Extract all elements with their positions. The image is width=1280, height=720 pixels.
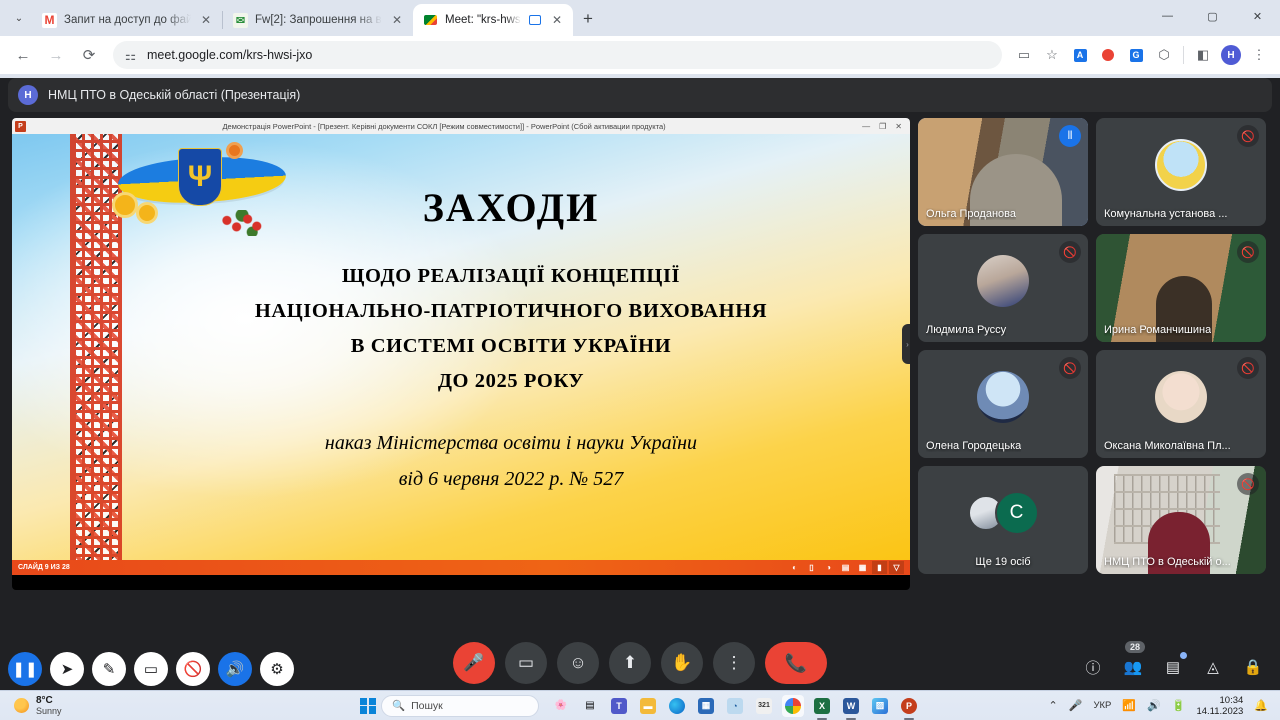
hangup-button[interactable]: 📞 bbox=[765, 642, 827, 684]
browser-tab-2[interactable]: Fw[2]: Запрошення на вебінар ✕ bbox=[223, 4, 413, 36]
participant-count-badge: 28 bbox=[1125, 641, 1145, 653]
app-running-indicator bbox=[904, 718, 914, 720]
word-icon[interactable]: W bbox=[840, 695, 862, 717]
mic-toggle-button[interactable]: 🎤 bbox=[453, 642, 495, 684]
sun-icon bbox=[14, 698, 29, 713]
address-bar-row: ← → ⟳ ⚏ meet.google.com/krs-hwsi-jxo ▭ ☆… bbox=[0, 36, 1280, 74]
participant-name: Ирина Романчишина bbox=[1104, 324, 1211, 336]
participant-name: НМЦ ПТО в Одеській о... bbox=[1104, 556, 1231, 568]
new-tab-button[interactable]: + bbox=[573, 4, 603, 34]
people-icon[interactable]: 28 👥 bbox=[1120, 654, 1146, 680]
search-placeholder: Пошук bbox=[411, 700, 443, 712]
close-icon[interactable]: ✕ bbox=[895, 122, 902, 131]
translate-icon[interactable]: A bbox=[1067, 42, 1093, 68]
powerpoint-title-bar: P Демонстрація PowerPoint - [Презент. Ке… bbox=[12, 118, 910, 134]
participant-name: Оксана Миколаївна Пл... bbox=[1104, 440, 1231, 452]
record-dot-icon[interactable] bbox=[1095, 42, 1121, 68]
participant-tile-oksana[interactable]: 🚫 Оксана Миколаївна Пл... bbox=[1096, 350, 1266, 458]
slide-subtitle-2: від 6 червня 2022 р. № 527 bbox=[142, 461, 880, 497]
mic-off-icon: 🚫 bbox=[1237, 357, 1259, 379]
battery-icon[interactable]: 🔋 bbox=[1172, 699, 1186, 712]
host-controls-lock-icon[interactable]: 🔒 bbox=[1240, 654, 1266, 680]
bookshelf-background bbox=[1114, 474, 1220, 544]
minimize-button[interactable]: — bbox=[1145, 0, 1190, 32]
avatar bbox=[977, 255, 1029, 307]
teams-icon[interactable]: T bbox=[608, 695, 630, 717]
weather-widget[interactable]: 8°C Sunny bbox=[0, 695, 62, 717]
excel-icon[interactable]: X bbox=[811, 695, 833, 717]
meeting-body: P Демонстрація PowerPoint - [Презент. Ке… bbox=[0, 112, 1280, 586]
powerpoint-window-controls: — ❐ ✕ bbox=[862, 122, 907, 131]
app-running-indicator bbox=[846, 718, 856, 720]
close-window-button[interactable]: ✕ bbox=[1235, 0, 1280, 32]
present-screen-button[interactable]: ⬆ bbox=[609, 642, 651, 684]
back-icon[interactable]: ← bbox=[8, 40, 38, 70]
microsoft-store-icon[interactable]: ▦ bbox=[695, 695, 717, 717]
pen-tools-icon[interactable]: ▯ bbox=[804, 561, 819, 574]
mic-off-icon: 🚫 bbox=[1059, 241, 1081, 263]
slide-number-status: СЛАЙД 9 ИЗ 28 bbox=[18, 564, 70, 571]
participant-tile-olena[interactable]: 🚫 Олена Городецька bbox=[918, 350, 1088, 458]
show-hidden-icons-chevron-icon[interactable]: ⌃ bbox=[1049, 699, 1058, 712]
close-icon[interactable]: ✕ bbox=[198, 12, 214, 28]
forward-icon[interactable]: → bbox=[41, 40, 71, 70]
shared-screen-powerpoint[interactable]: P Демонстрація PowerPoint - [Презент. Ке… bbox=[12, 118, 910, 590]
minimize-icon[interactable]: — bbox=[862, 122, 870, 131]
maximize-button[interactable]: ▢ bbox=[1190, 0, 1235, 32]
tab-media-indicator-icon[interactable] bbox=[528, 13, 542, 27]
participant-name: Комунальна установа ... bbox=[1104, 208, 1227, 220]
reload-icon[interactable]: ⟳ bbox=[74, 40, 104, 70]
grid-view-icon[interactable]: ▦ bbox=[855, 561, 870, 574]
browser-tab-1[interactable]: Запит на доступ до файлу "ПР ✕ bbox=[32, 4, 222, 36]
browser-tab-3-active[interactable]: Meet: "krs-hwsi-jxo" ✕ bbox=[413, 4, 573, 36]
mic-off-icon: 🚫 bbox=[1237, 125, 1259, 147]
tab-title: Запит на доступ до файлу "ПР bbox=[64, 14, 191, 26]
chrome-icon[interactable] bbox=[782, 695, 804, 717]
google-meet-app: H НМЦ ПТО в Одеській області (Презентаці… bbox=[0, 78, 1280, 694]
weather-temperature: 8°C bbox=[36, 695, 62, 706]
toolbar-divider bbox=[1183, 46, 1184, 64]
slide-line-3: В СИСТЕМІ ОСВІТИ УКРАЇНИ bbox=[142, 329, 880, 364]
avatar: C bbox=[995, 491, 1039, 535]
video-camera-icon[interactable]: ▭ bbox=[1011, 42, 1037, 68]
slide-subtitle-1: наказ Міністерства освіти і науки Україн… bbox=[142, 425, 880, 461]
wifi-icon[interactable]: 📶 bbox=[1122, 699, 1136, 712]
notes-icon[interactable]: ▤ bbox=[838, 561, 853, 574]
taskbar-apps: 🌸 ▤ T ▬ ▦ ◔ 321 X W ▨ P bbox=[550, 695, 920, 717]
avatar bbox=[1155, 371, 1207, 423]
meeting-header: H НМЦ ПТО в Одеській області (Презентаці… bbox=[8, 78, 1272, 112]
photos-icon[interactable]: ▨ bbox=[869, 695, 891, 717]
file-explorer-icon[interactable]: ▬ bbox=[637, 695, 659, 717]
weather-description: Sunny bbox=[36, 706, 62, 717]
meeting-info-icon[interactable]: ⓘ bbox=[1080, 654, 1106, 680]
activities-icon[interactable]: ◬ bbox=[1200, 654, 1226, 680]
close-icon[interactable]: ✕ bbox=[549, 12, 565, 28]
participant-tile-ludmila[interactable]: 🚫 Людмила Руссу bbox=[918, 234, 1088, 342]
profile-avatar[interactable]: H bbox=[1218, 42, 1244, 68]
chat-icon[interactable]: ▤ bbox=[1160, 654, 1186, 680]
unread-dot-indicator bbox=[1180, 652, 1187, 659]
gmail-icon bbox=[42, 13, 57, 28]
avatar bbox=[977, 371, 1029, 423]
mic-off-icon: 🚫 bbox=[1237, 241, 1259, 263]
participant-grid: ⦀ Ольга Проданова 🚫 Комунальна установа … bbox=[918, 118, 1266, 586]
powerpoint-status-bar: СЛАЙД 9 ИЗ 28 ◐ ▯ ◑ ▤ ▦ ▮ ▽ bbox=[12, 560, 910, 575]
tab-title: Fw[2]: Запрошення на вебінар bbox=[255, 14, 382, 26]
volume-icon[interactable]: 🔊 bbox=[1147, 699, 1161, 712]
participant-name: Людмила Руссу bbox=[926, 324, 1006, 336]
slide-line-2: НАЦІОНАЛЬНО-ПАТРІОТИЧНОГО ВИХОВАННЯ bbox=[142, 294, 880, 329]
flower-icon bbox=[226, 142, 243, 159]
participant-name: Олена Городецька bbox=[926, 440, 1021, 452]
calendar-icon[interactable]: 321 bbox=[753, 695, 775, 717]
taskbar-center: 🔍 Пошук 🌸 ▤ T ▬ ▦ ◔ 321 X W ▨ P bbox=[360, 695, 920, 717]
more-slideshow-options-icon[interactable]: ▽ bbox=[889, 561, 904, 574]
slide-text-block: ЗАХОДИ ЩОДО РЕАЛІЗАЦІЇ КОНЦЕПЦІЇ НАЦІОНА… bbox=[142, 184, 880, 497]
tab-search-chevron-icon[interactable]: ⌄ bbox=[6, 4, 32, 32]
windows-taskbar: 8°C Sunny 🔍 Пошук 🌸 ▤ T ▬ ▦ ◔ 321 X W ▨ … bbox=[0, 690, 1280, 720]
powerpoint-icon[interactable]: P bbox=[898, 695, 920, 717]
avatar-stack: C bbox=[968, 491, 1039, 535]
search-input[interactable]: 🔍 Пошук bbox=[381, 695, 539, 717]
tab-title: Meet: "krs-hwsi-jxo" bbox=[445, 14, 521, 26]
url-input[interactable]: ⚏ meet.google.com/krs-hwsi-jxo bbox=[113, 41, 1002, 69]
emoji-reaction-button[interactable]: ☺ bbox=[557, 642, 599, 684]
task-view-icon[interactable]: ▤ bbox=[579, 695, 601, 717]
side-panel-icon[interactable]: ◧ bbox=[1190, 42, 1216, 68]
mic-off-icon: 🚫 bbox=[1059, 357, 1081, 379]
clock-date: 14.11.2023 bbox=[1196, 706, 1243, 717]
clock-widget[interactable]: 10:34 14.11.2023 bbox=[1196, 695, 1243, 717]
participant-tile-olga[interactable]: ⦀ Ольга Проданова bbox=[918, 118, 1088, 226]
close-icon[interactable]: ✕ bbox=[389, 12, 405, 28]
sunflower-icon bbox=[112, 192, 138, 218]
notification-bell-icon[interactable]: 🔔 bbox=[1254, 699, 1268, 712]
participant-tile-nmc[interactable]: 🚫 НМЦ ПТО в Одеській о... bbox=[1096, 466, 1266, 574]
participant-tile-komunalna[interactable]: 🚫 Комунальна установа ... bbox=[1096, 118, 1266, 226]
participant-tile-overflow[interactable]: C Ще 19 осіб bbox=[918, 466, 1088, 574]
extensions-icon[interactable]: ⬡ bbox=[1151, 42, 1177, 68]
powerpoint-window-title: Демонстрація PowerPoint - [Презент. Кері… bbox=[26, 122, 862, 131]
participant-name: Ольга Проданова bbox=[926, 208, 1016, 220]
slide-canvas: Ψ ЗАХОДИ ЩОДО РЕАЛІЗАЦІЇ КОНЦЕПЦІЇ НАЦІО… bbox=[12, 134, 910, 575]
audio-level-icon: ⦀ bbox=[1059, 125, 1081, 147]
collapse-panel-chevron-icon[interactable]: › bbox=[902, 324, 910, 364]
start-button-icon[interactable] bbox=[360, 698, 376, 714]
next-slide-icon[interactable]: ◑ bbox=[821, 561, 836, 574]
pinned-flower-icon[interactable]: 🌸 bbox=[550, 695, 572, 717]
meet-icon bbox=[423, 13, 438, 28]
omnibox-actions: ▭ ☆ A G ⬡ ◧ H ⋮ bbox=[1011, 42, 1272, 68]
camera-toggle-button[interactable]: ▭ bbox=[505, 642, 547, 684]
page-title: НМЦ ПТО в Одеській області (Презентація) bbox=[48, 88, 300, 102]
raise-hand-button[interactable]: ✋ bbox=[661, 642, 703, 684]
slide-line-1: ЩОДО РЕАЛІЗАЦІЇ КОНЦЕПЦІЇ bbox=[142, 259, 880, 294]
powerpoint-icon: P bbox=[15, 121, 26, 132]
microphone-icon[interactable]: 🎤 bbox=[1069, 699, 1083, 712]
avatar: H bbox=[18, 85, 38, 105]
search-icon: 🔍 bbox=[392, 699, 405, 712]
tab-strip: ⌄ Запит на доступ до файлу "ПР ✕ Fw[2]: … bbox=[0, 0, 1280, 36]
app-running-indicator bbox=[817, 718, 827, 720]
zoom-icon[interactable]: ▮ bbox=[872, 561, 887, 574]
slide-heading: ЗАХОДИ bbox=[142, 184, 880, 231]
participant-name: Ще 19 осіб bbox=[918, 556, 1088, 568]
google-lens-icon[interactable]: G bbox=[1123, 42, 1149, 68]
chrome-browser-window: ⌄ Запит на доступ до файлу "ПР ✕ Fw[2]: … bbox=[0, 0, 1280, 690]
slideshow-toolbar: ◐ ▯ ◑ ▤ ▦ ▮ ▽ bbox=[787, 561, 904, 574]
site-settings-icon[interactable]: ⚏ bbox=[123, 48, 138, 63]
slide-line-4: ДО 2025 РОКУ bbox=[142, 364, 880, 399]
previous-slide-icon[interactable]: ◐ bbox=[787, 561, 802, 574]
url-text: meet.google.com/krs-hwsi-jxo bbox=[147, 48, 312, 62]
mail-icon bbox=[233, 13, 248, 28]
meet-right-controls: ⓘ 28 👥 ▤ ◬ 🔒 bbox=[1080, 654, 1266, 680]
chrome-menu-icon[interactable]: ⋮ bbox=[1246, 42, 1272, 68]
system-tray: ⌃ 🎤 УКР 📶 🔊 🔋 10:34 14.11.2023 🔔 bbox=[1049, 691, 1280, 720]
window-controls: — ▢ ✕ bbox=[1145, 0, 1280, 36]
edge-icon[interactable] bbox=[666, 695, 688, 717]
restore-icon[interactable]: ❐ bbox=[879, 122, 886, 131]
bookmark-star-icon[interactable]: ☆ bbox=[1039, 42, 1065, 68]
clock-time: 10:34 bbox=[1196, 695, 1243, 706]
mic-off-icon: 🚫 bbox=[1237, 473, 1259, 495]
language-indicator[interactable]: УКР bbox=[1093, 700, 1111, 711]
participant-tile-irina[interactable]: 🚫 Ирина Романчишина bbox=[1096, 234, 1266, 342]
presentation-app-icon[interactable]: ◔ bbox=[724, 695, 746, 717]
avatar bbox=[1155, 139, 1207, 191]
more-options-button[interactable]: ⋮ bbox=[713, 642, 755, 684]
